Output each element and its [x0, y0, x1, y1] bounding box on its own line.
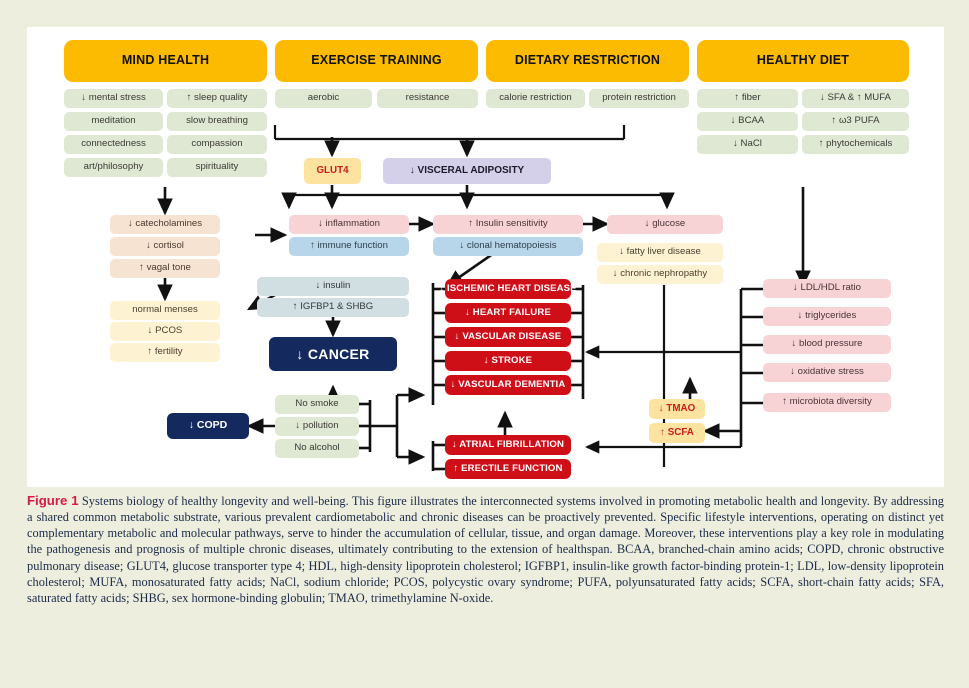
node-triglycerides[interactable]: ↓ triglycerides [763, 307, 891, 326]
chip-sleep-quality[interactable]: ↑ sleep quality [167, 89, 267, 108]
chip-slow-breathing[interactable]: slow breathing [167, 112, 267, 131]
chip-aerobic[interactable]: aerobic [275, 89, 372, 108]
chip-sfa-mufa[interactable]: ↓ SFA & ↑ MUFA [802, 89, 909, 108]
node-immune-function[interactable]: ↑ immune function [289, 237, 409, 256]
diagram-panel: MIND HEALTH EXERCISE TRAINING DIETARY RE… [27, 27, 944, 487]
figure-label: Figure 1 [27, 493, 79, 508]
node-scfa[interactable]: ↑ SCFA [649, 423, 705, 443]
node-insulin-sensitivity[interactable]: ↑ Insulin sensitivity [433, 215, 583, 234]
chip-meditation[interactable]: meditation [64, 112, 163, 131]
disease-ischemic-heart-disease[interactable]: ↓ ISCHEMIC HEART DISEASE [445, 279, 571, 299]
chip-no-smoke[interactable]: No smoke [275, 395, 359, 414]
node-visceral-adiposity[interactable]: ↓ VISCERAL ADIPOSITY [383, 158, 551, 184]
node-catecholamines[interactable]: ↓ catecholamines [110, 215, 220, 234]
chip-spirituality[interactable]: spirituality [167, 158, 267, 177]
chip-fiber[interactable]: ↑ fiber [697, 89, 798, 108]
node-blood-pressure[interactable]: ↓ blood pressure [763, 335, 891, 354]
disease-heart-failure[interactable]: ↓ HEART FAILURE [445, 303, 571, 323]
diagram-canvas: MIND HEALTH EXERCISE TRAINING DIETARY RE… [27, 27, 944, 487]
chip-connectedness[interactable]: connectedness [64, 135, 163, 154]
chip-resistance[interactable]: resistance [377, 89, 478, 108]
chip-nacl[interactable]: ↓ NaCl [697, 135, 798, 154]
disease-atrial-fibrillation[interactable]: ↓ ATRIAL FIBRILLATION [445, 435, 571, 455]
node-tmao[interactable]: ↓ TMAO [649, 399, 705, 419]
header-exercise-training[interactable]: EXERCISE TRAINING [275, 40, 478, 82]
header-dietary-restriction[interactable]: DIETARY RESTRICTION [486, 40, 689, 82]
node-insulin[interactable]: ↓ insulin [257, 277, 409, 296]
header-mind-health[interactable]: MIND HEALTH [64, 40, 267, 82]
figure-root: MIND HEALTH EXERCISE TRAINING DIETARY RE… [0, 0, 969, 688]
node-glut4[interactable]: GLUT4 [304, 158, 361, 184]
node-microbiota-diversity[interactable]: ↑ microbiota diversity [763, 393, 891, 412]
chip-art-philosophy[interactable]: art/philosophy [64, 158, 163, 177]
node-glucose[interactable]: ↓ glucose [607, 215, 723, 234]
figure-caption: Figure 1 Systems biology of healthy long… [27, 492, 944, 606]
chip-compassion[interactable]: compassion [167, 135, 267, 154]
node-fatty-liver-disease[interactable]: ↓ fatty liver disease [597, 243, 723, 262]
node-chronic-nephropathy[interactable]: ↓ chronic nephropathy [597, 265, 723, 284]
chip-omega3-pufa[interactable]: ↑ ω3 PUFA [802, 112, 909, 131]
disease-vascular-dementia[interactable]: ↓ VASCULAR DEMENTIA [445, 375, 571, 395]
chip-bcaa[interactable]: ↓ BCAA [697, 112, 798, 131]
chip-calorie-restriction[interactable]: calorie restriction [486, 89, 585, 108]
node-cancer[interactable]: ↓ CANCER [269, 337, 397, 371]
node-igfbp1-shbg[interactable]: ↑ IGFBP1 & SHBG [257, 298, 409, 317]
disease-vascular-disease[interactable]: ↓ VASCULAR DISEASE [445, 327, 571, 347]
header-healthy-diet[interactable]: HEALTHY DIET [697, 40, 909, 82]
node-ldl-hdl-ratio[interactable]: ↓ LDL/HDL ratio [763, 279, 891, 298]
node-pcos[interactable]: ↓ PCOS [110, 322, 220, 341]
figure-caption-text: Systems biology of healthy longevity and… [27, 494, 944, 605]
node-clonal-hematopoiesis[interactable]: ↓ clonal hematopoiesis [433, 237, 583, 256]
chip-protein-restriction[interactable]: protein restriction [589, 89, 689, 108]
disease-stroke[interactable]: ↓ STROKE [445, 351, 571, 371]
node-fertility[interactable]: ↑ fertility [110, 343, 220, 362]
node-copd[interactable]: ↓ COPD [167, 413, 249, 439]
node-oxidative-stress[interactable]: ↓ oxidative stress [763, 363, 891, 382]
chip-pollution[interactable]: ↓ pollution [275, 417, 359, 436]
disease-erectile-function[interactable]: ↑ ERECTILE FUNCTION [445, 459, 571, 479]
node-inflammation[interactable]: ↓ inflammation [289, 215, 409, 234]
node-vagal-tone[interactable]: ↑ vagal tone [110, 259, 220, 278]
node-normal-menses[interactable]: normal menses [110, 301, 220, 320]
node-cortisol[interactable]: ↓ cortisol [110, 237, 220, 256]
chip-no-alcohol[interactable]: No alcohol [275, 439, 359, 458]
chip-mental-stress[interactable]: ↓ mental stress [64, 89, 163, 108]
chip-phytochemicals[interactable]: ↑ phytochemicals [802, 135, 909, 154]
